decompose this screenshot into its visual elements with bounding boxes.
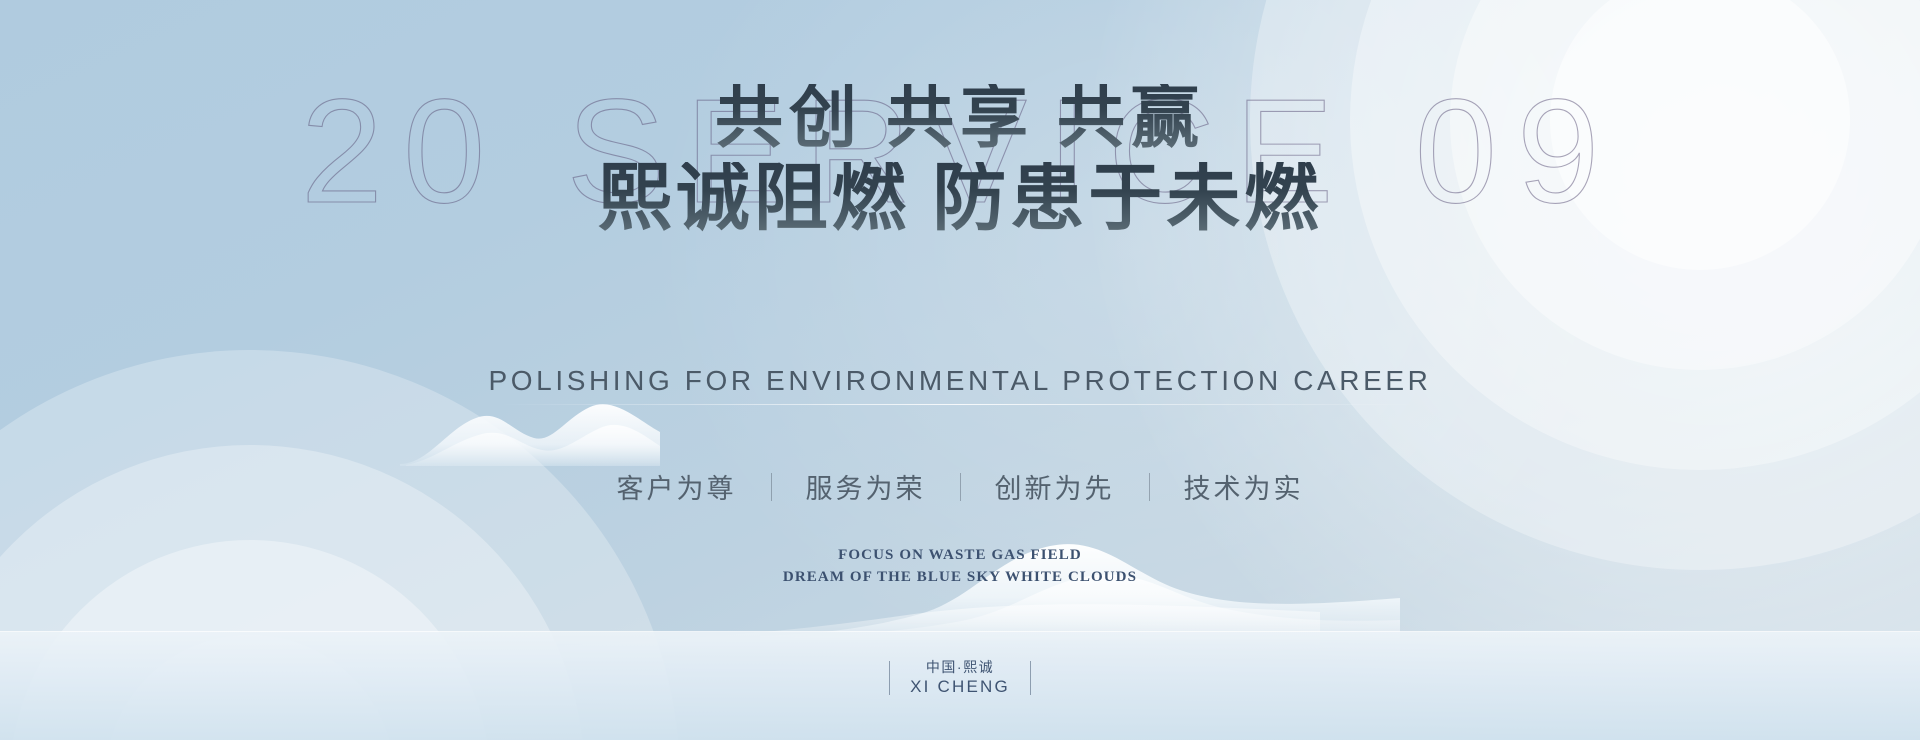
logo-chinese-name: 中国·熙诚 <box>910 658 1010 677</box>
core-values-row: 客户为尊 服务为荣 创新为先 技术为实 <box>0 467 1920 506</box>
value-item-4: 技术为实 <box>1150 467 1338 506</box>
headline-block: 共创 共享 共赢 熙诚阻燃 防患于未燃 <box>0 84 1920 236</box>
headline-line-1: 共创 共享 共赢 <box>0 84 1920 152</box>
english-couplet: FOCUS ON WASTE GAS FIELD DREAM OF THE BL… <box>0 545 1920 589</box>
logo-text-stack: 中国·熙诚 XI CHENG <box>910 658 1010 697</box>
value-item-2: 服务为荣 <box>772 467 960 506</box>
logo-english-name: XI CHENG <box>910 677 1010 697</box>
brand-logo-lockup: 中国·熙诚 XI CHENG <box>0 658 1920 697</box>
tagline-underline <box>500 404 1420 405</box>
couplet-line-2: DREAM OF THE BLUE SKY WHITE CLOUDS <box>0 567 1920 589</box>
logo-rule-right <box>1030 661 1031 695</box>
english-tagline: POLISHING FOR ENVIRONMENTAL PROTECTION C… <box>0 365 1920 397</box>
promotional-banner: 20 SERVICE 09 <box>0 0 1920 740</box>
headline-line-2: 熙诚阻燃 防患于未燃 <box>0 162 1920 236</box>
logo-rule-left <box>889 661 890 695</box>
couplet-line-1: FOCUS ON WASTE GAS FIELD <box>0 545 1920 567</box>
value-item-1: 客户为尊 <box>583 467 771 506</box>
value-item-3: 创新为先 <box>961 467 1149 506</box>
